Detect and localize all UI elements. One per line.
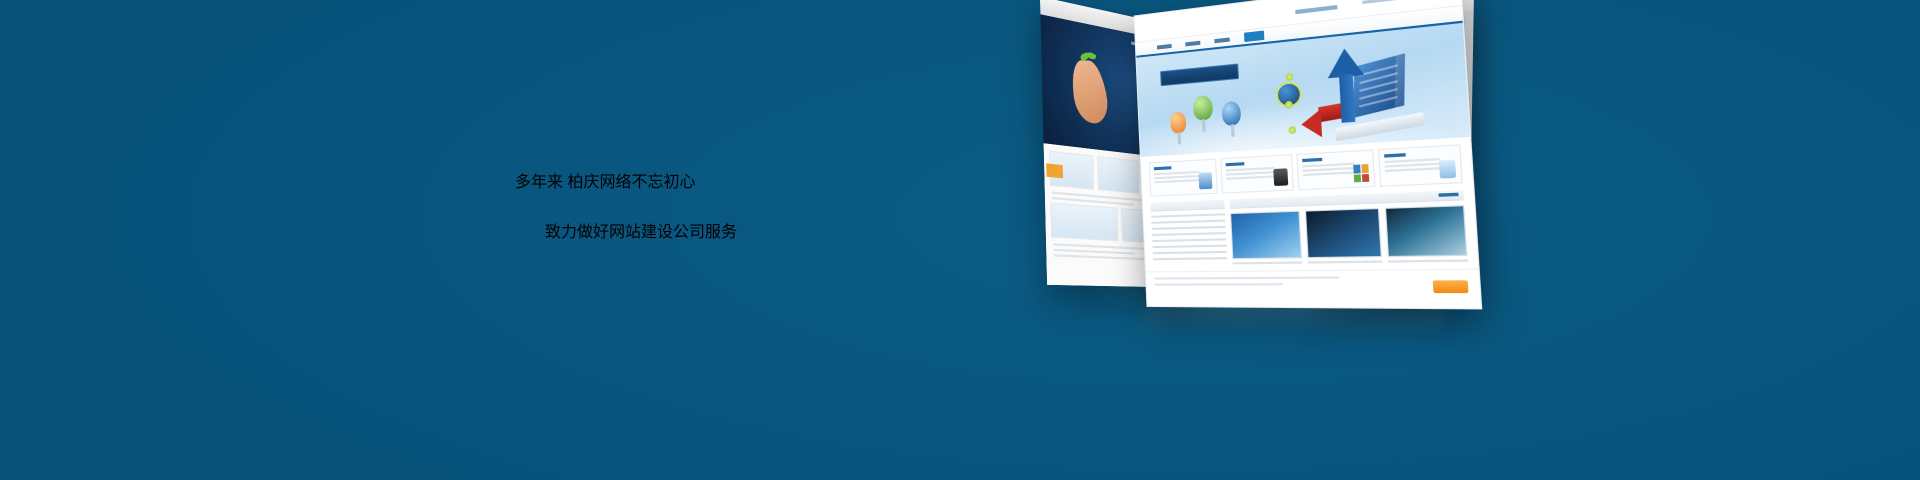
hero-title-bar [1160,63,1239,86]
case-thumbnail [1385,205,1468,257]
footer-cta-button [1433,280,1469,293]
case-item [1230,211,1302,265]
feature-card [1378,144,1463,186]
case-study-panel [1229,190,1467,264]
headline-line-1: 多年来 柏庆网络不忘初心 [515,168,695,192]
main-website-screenshot [1134,0,1483,309]
main-screen-lower-content [1143,190,1479,272]
accent-dot [1286,73,1294,81]
main-screen-footer [1146,269,1481,304]
left-card [1097,156,1139,194]
balloon-blue-icon [1222,101,1242,126]
slogan-line-2 [1362,0,1397,4]
sprout-icon [1082,49,1096,69]
feature-card [1296,149,1375,190]
news-list-panel [1151,200,1228,266]
nav-item [1214,37,1230,43]
website-showcase: BAHA [1010,0,1480,360]
headline-line-1-wrap: 多年来 柏庆网络不忘初心 [515,168,695,192]
nav-item-active [1244,31,1264,43]
feature-card [1220,154,1294,193]
case-thumbnail [1230,211,1302,259]
case-thumbnail-row [1230,205,1468,264]
grid-icon [1353,164,1369,182]
balloon-stand [1202,119,1206,132]
case-item [1305,208,1382,264]
case-item [1385,205,1468,263]
balloon-stand [1178,132,1182,144]
balloon-stand [1231,124,1235,137]
banner-stage: 多年来 柏庆网络不忘初心 致力做好网站建设公司服务 [0,0,1920,480]
case-thumbnail [1305,208,1382,258]
feature-card [1149,159,1218,197]
balloon-orange-icon [1170,111,1187,133]
phone-icon [1273,168,1288,186]
left-card [1050,202,1118,241]
tablet-icon [1439,160,1456,179]
document-icon [1198,172,1212,189]
arrow-down-icon [1301,109,1322,138]
headline-line-2-wrap: 致力做好网站建设公司服务 [545,218,737,242]
nav-item [1157,43,1172,49]
hand-illustration [1068,60,1110,124]
news-panel-header [1151,200,1225,212]
left-screen-tag [1046,163,1063,178]
phone-number-placeholder [1295,5,1337,14]
headline-line-2: 致力做好网站建设公司服务 [545,218,737,242]
arrow-up-stem [1339,74,1355,123]
nav-item [1185,40,1200,46]
